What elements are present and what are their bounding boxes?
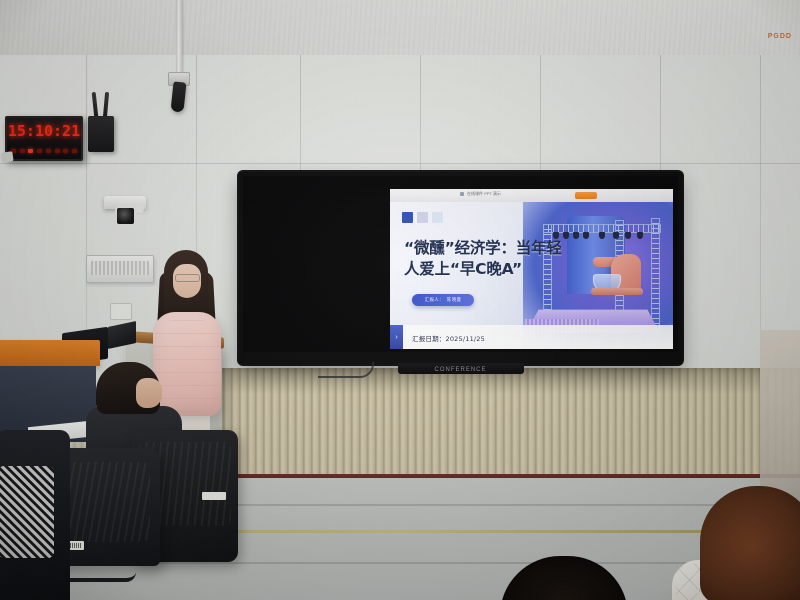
browser-tab-title: 在线课件 PPT 演示 (467, 191, 501, 197)
wireless-receiver-box (88, 116, 114, 152)
student-seated-left (0, 430, 70, 600)
ceiling-mic-pole (176, 0, 182, 76)
clock-mount-bracket (0, 151, 13, 163)
clock-time-display: 15:10:21 (7, 122, 81, 140)
foreground-head-brown (700, 486, 800, 600)
screen-content[interactable]: 在线课件 PPT 演示 (390, 189, 673, 349)
glasses-icon (175, 274, 200, 282)
presenter-name: 陈晓曼 (447, 297, 461, 303)
foreground-person-right (760, 330, 800, 505)
slide-title: “微醺”经济学：当年轻人爱上“早C晚A” (404, 238, 576, 280)
slide-date-value: 2025/11/25 (446, 335, 485, 343)
presenter-label: 汇报人： (425, 297, 444, 303)
ptz-camera-icon (104, 196, 146, 222)
asset-tag (202, 492, 226, 500)
slide-footer: › 汇报日期：2025/11/25 (390, 325, 673, 349)
browser-chrome: 在线课件 PPT 演示 (390, 189, 673, 203)
display-cable (318, 362, 374, 378)
led-wall-clock: 15:10:21 (5, 116, 83, 161)
slide-logo-square (417, 212, 428, 223)
clock-indicator-row (11, 149, 77, 155)
slide-logo-square (402, 212, 413, 223)
av-wall-panel[interactable] (86, 255, 154, 283)
present-action-button[interactable] (575, 192, 597, 199)
browser-tab[interactable]: 在线课件 PPT 演示 (460, 191, 501, 197)
presentation-slide: “微醺”经济学：当年轻人爱上“早C晚A” 汇报人： 陈晓曼 › 汇报日期：202… (390, 202, 673, 349)
display-brand: CONFERENCE (434, 367, 486, 373)
tab-favicon-icon (460, 192, 464, 196)
console-logo: PGDD (768, 33, 792, 40)
ceiling (0, 0, 800, 62)
slide-logo-square (432, 212, 443, 223)
presenter-badge: 汇报人： 陈晓曼 (412, 294, 474, 306)
slide-date-label: 汇报日期： (412, 335, 446, 343)
slide-date: 汇报日期：2025/11/25 (412, 333, 485, 343)
wall-mounted-display[interactable]: 在线课件 PPT 演示 (239, 172, 682, 364)
slide-next-arrow-icon[interactable]: › (390, 325, 403, 349)
classroom-photo-scene: 15:10:21 在线课件 PPT 演示 (0, 0, 800, 600)
wall-outlet[interactable] (110, 303, 132, 320)
